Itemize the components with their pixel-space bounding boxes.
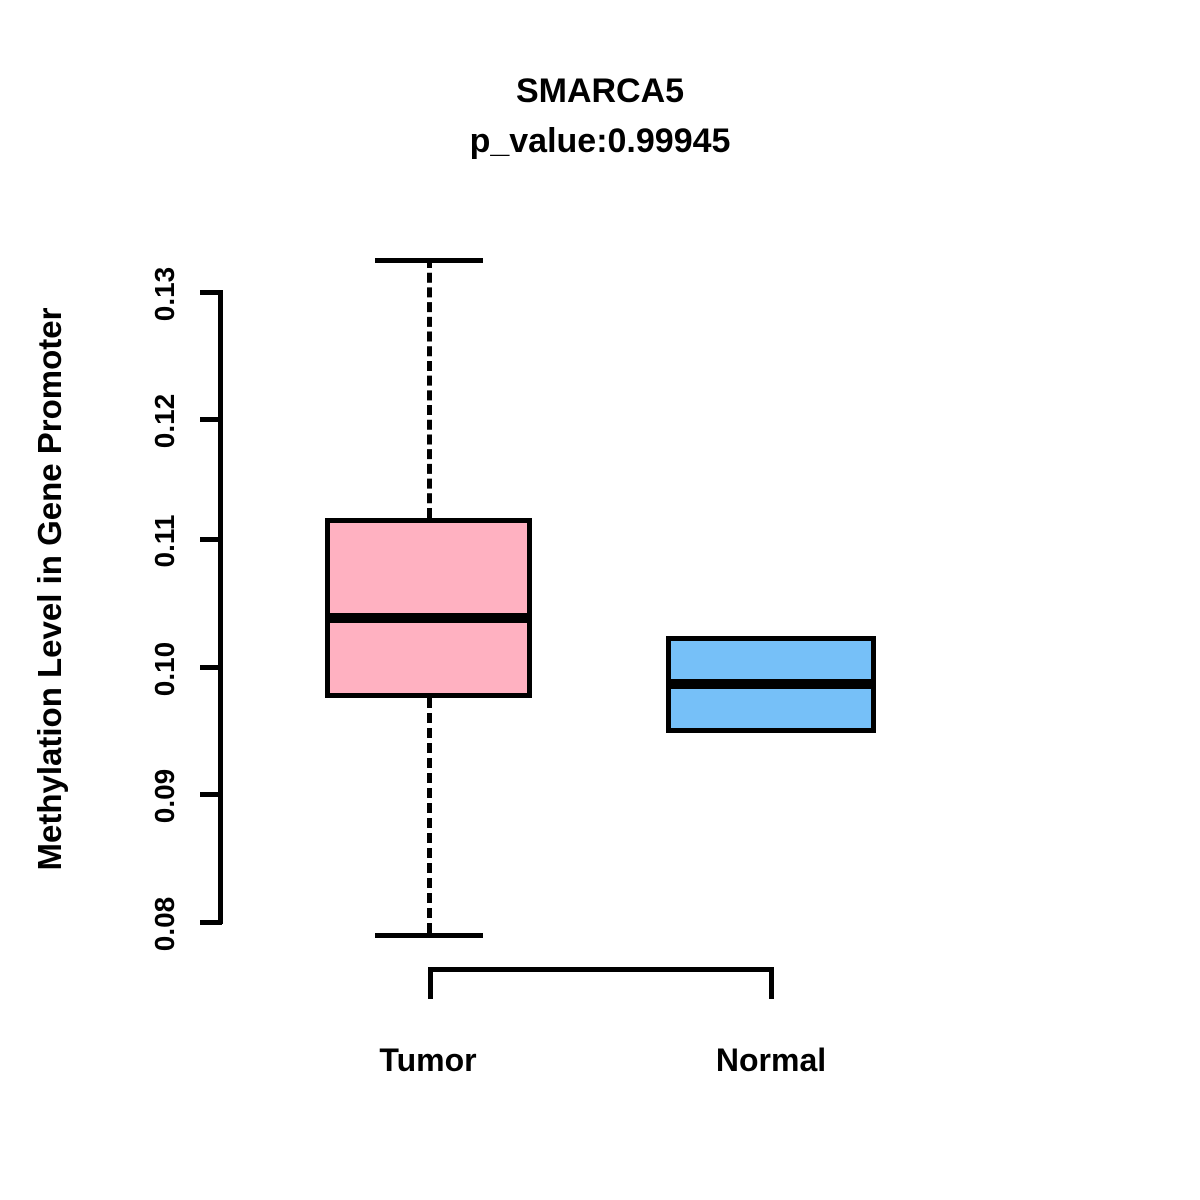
y-tick-4 [200,417,222,422]
tumor-whisker-upper [427,258,432,518]
y-tick-label-5: 0.13 [149,224,181,364]
y-tick-5 [200,290,222,295]
tumor-whisker-lower [427,698,432,934]
y-tick-0 [200,920,222,925]
x-axis-tick-tumor [428,967,433,999]
y-tick-label-0: 0.08 [149,854,181,994]
page-title: SMARCA5 [0,72,1200,111]
x-label-normal: Normal [661,1042,881,1079]
pvalue-subtitle: p_value:0.99945 [0,122,1200,161]
x-label-tumor: Tumor [318,1042,538,1079]
y-tick-label-1: 0.09 [149,726,181,866]
y-tick-2 [200,665,222,670]
y-tick-label-3: 0.11 [149,471,181,611]
boxplot-figure: SMARCA5 p_value:0.99945 Methylation Leve… [0,0,1200,1200]
tumor-median-line [325,613,532,623]
y-tick-1 [200,792,222,797]
tumor-whisker-cap-lower [375,933,483,938]
tumor-whisker-cap-upper [375,258,483,263]
normal-median-line [666,679,876,689]
y-tick-label-2: 0.10 [149,599,181,739]
y-tick-3 [200,537,222,542]
y-tick-label-4: 0.12 [149,351,181,491]
y-axis-label: Methylation Level in Gene Promoter [31,169,69,1009]
y-axis-spine [218,290,223,924]
tumor-box [325,518,532,698]
x-axis-tick-normal [769,967,774,999]
x-axis-bar [428,967,774,972]
